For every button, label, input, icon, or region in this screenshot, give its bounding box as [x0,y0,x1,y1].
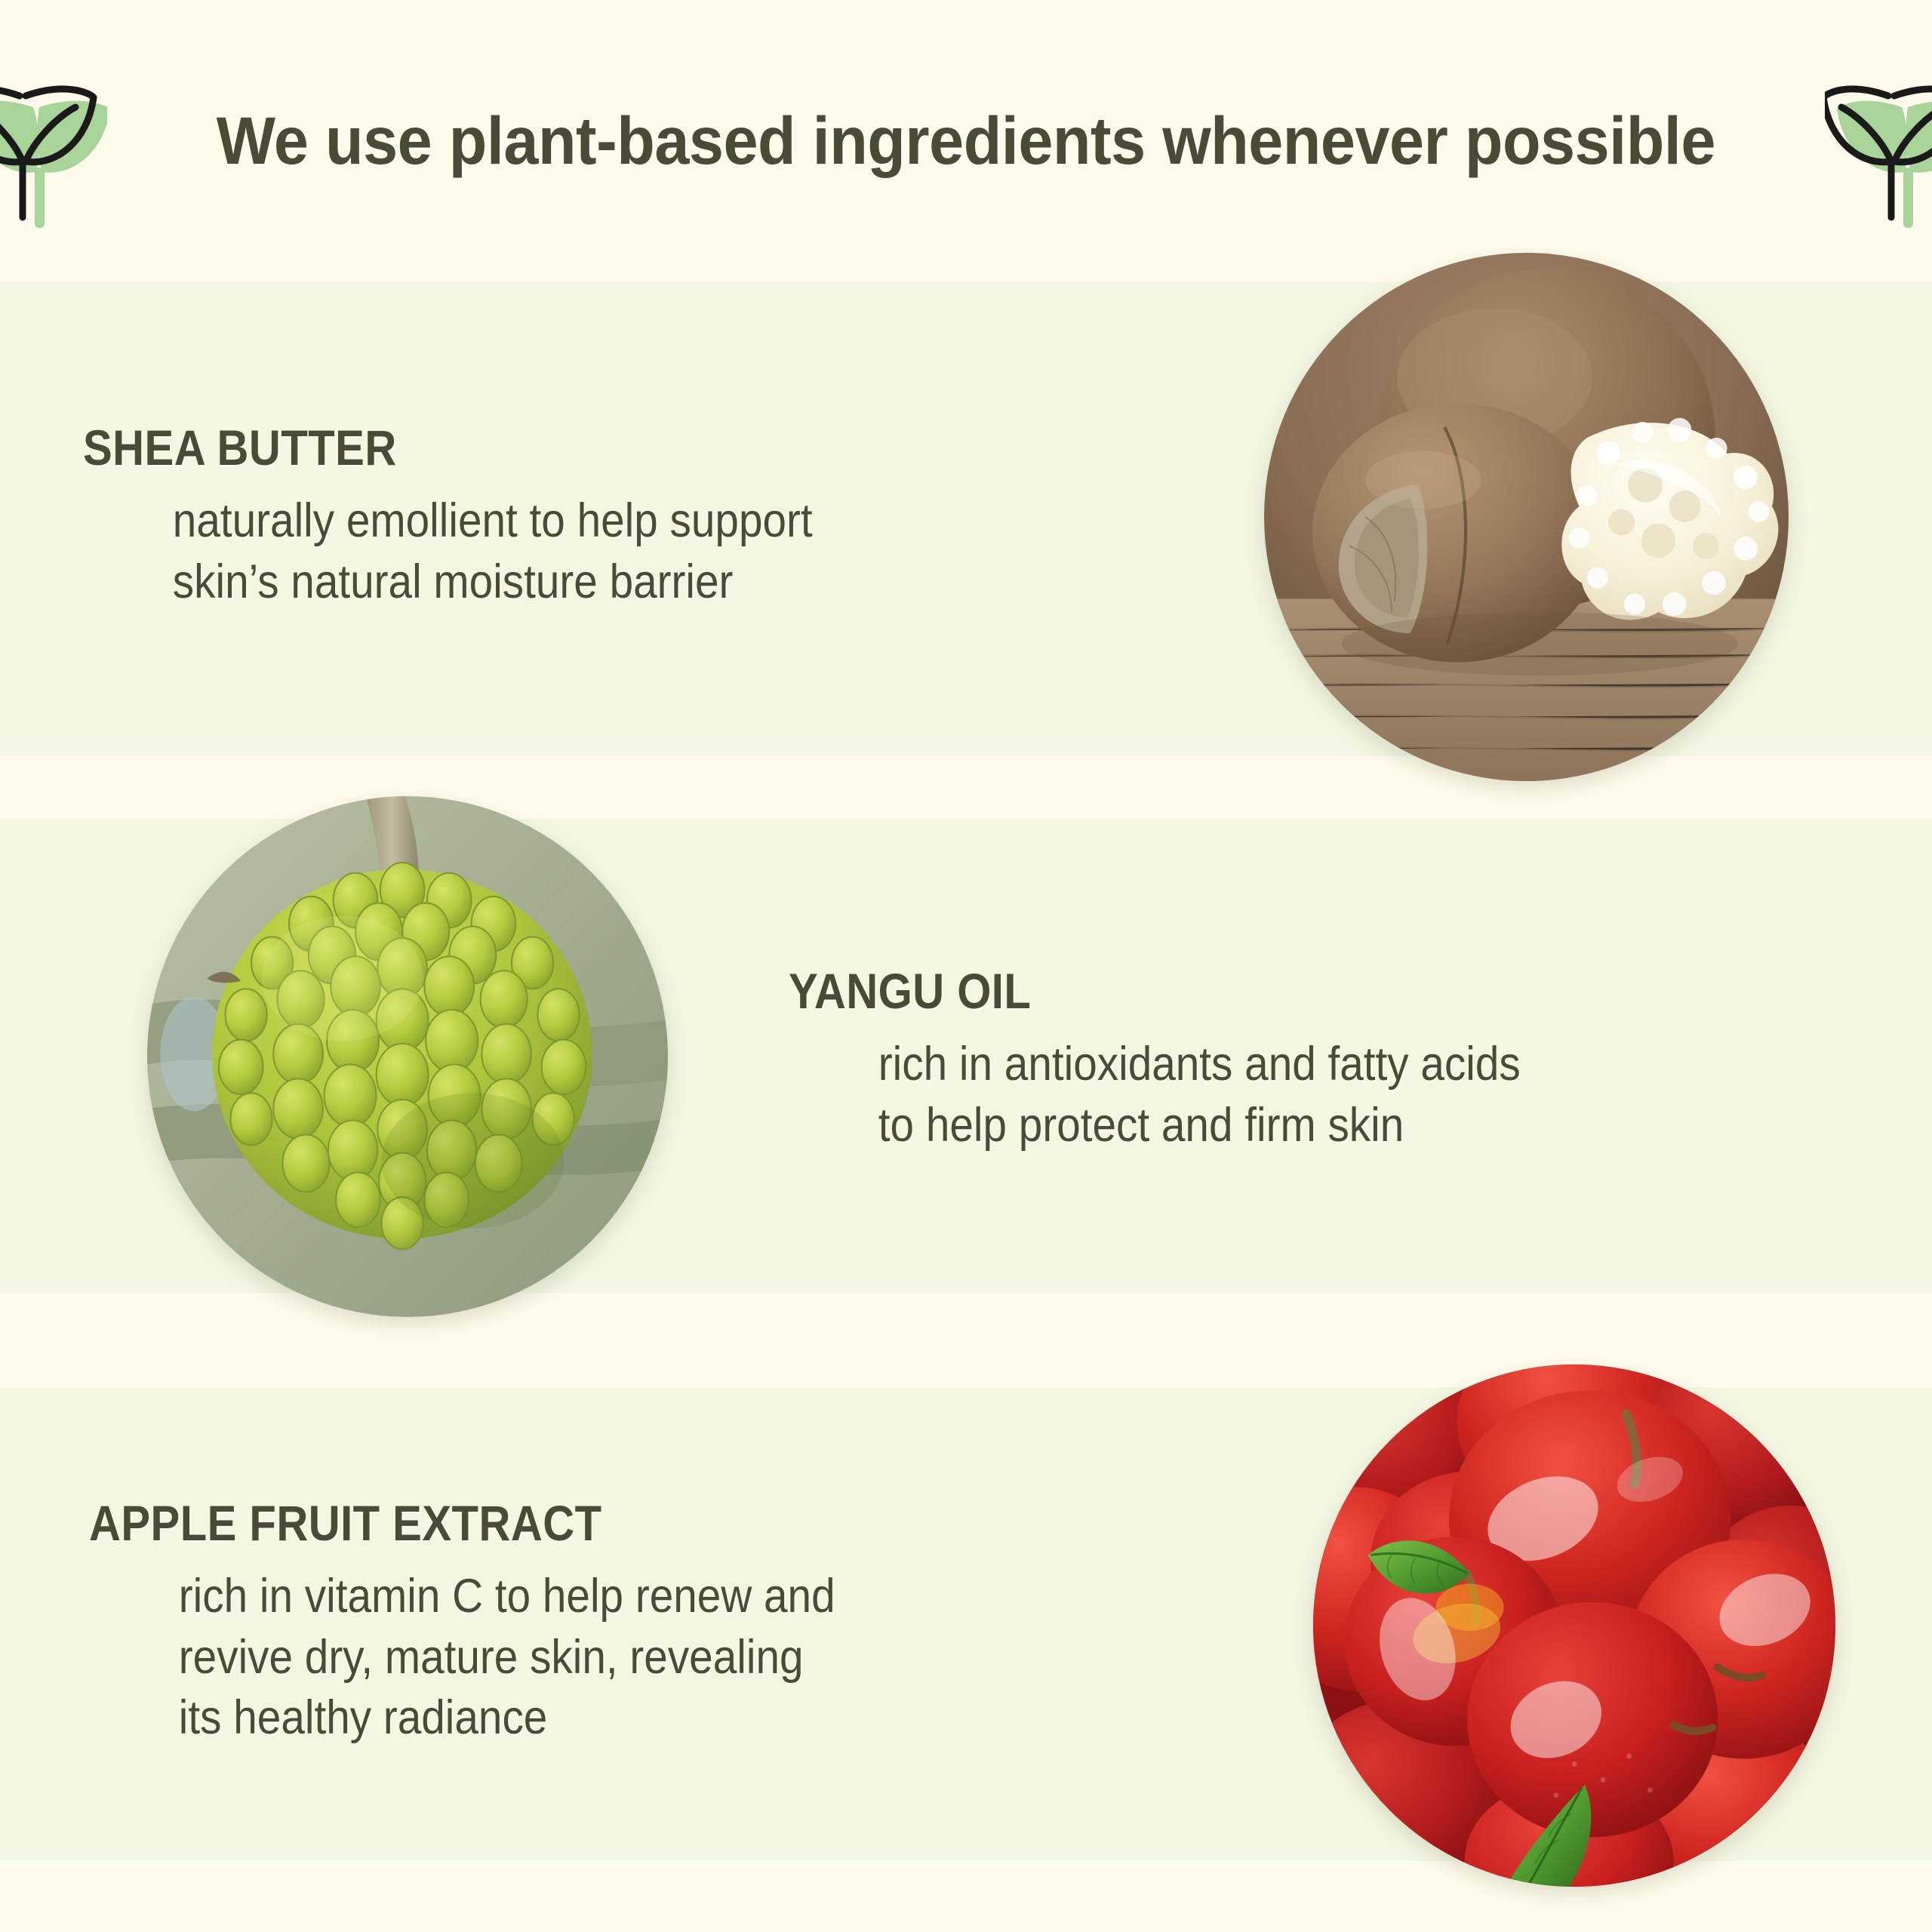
description-line: rich in vitamin C to help renew and [179,1566,835,1627]
ingredient-description: rich in antioxidants and fatty acids to … [789,1034,1521,1155]
ingredient-name: YANGU OIL [789,966,1504,1016]
red-apples-photo [1313,1364,1835,1887]
description-line: revive dry, mature skin, revealing [179,1627,835,1688]
ingredient-text-apple-fruit-extract: APPLE FRUIT EXTRACT rich in vitamin C to… [89,1498,918,1749]
ingredient-description: rich in vitamin C to help renew and revi… [89,1566,835,1749]
description-line: to help protect and firm skin [878,1095,1521,1156]
yangu-fruit-on-branch-photo [147,796,668,1317]
leaf-sprout-icon [1825,54,1932,228]
ingredient-text-shea-butter: SHEA BUTTER naturally emollient to help … [83,423,894,612]
shea-nuts-and-butter-photo [1264,253,1789,781]
header-banner: We use plant-based ingredients whenever … [0,0,1932,281]
page-title: We use plant-based ingredients whenever … [217,102,1715,180]
ingredient-text-yangu-oil: YANGU OIL rich in antioxidants and fatty… [789,966,1602,1155]
description-line: its healthy radiance [179,1687,835,1749]
description-line: rich in antioxidants and fatty acids [878,1034,1521,1095]
description-line: skin’s natural moisture barrier [173,552,813,613]
leaf-sprout-icon [0,54,107,228]
ingredient-name: SHEA BUTTER [83,423,796,472]
description-line: naturally emollient to help support [173,491,813,552]
ingredient-description: naturally emollient to help support skin… [83,491,813,612]
ingredient-name: APPLE FRUIT EXTRACT [89,1498,819,1548]
